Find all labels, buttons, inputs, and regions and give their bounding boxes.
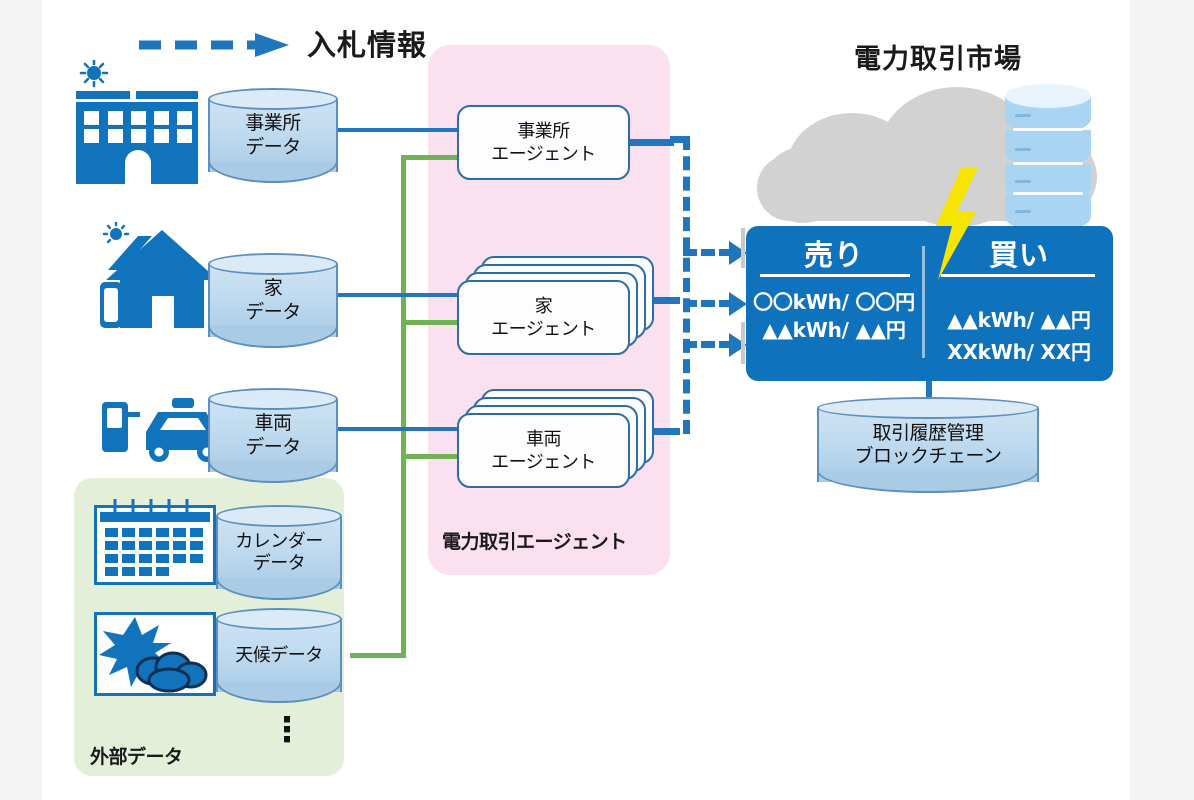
market-inlet-tick — [741, 228, 745, 268]
weather-data-trunk-horizontal — [350, 653, 406, 658]
market-title: 電力取引市場 — [854, 37, 1022, 76]
ledger-cylinder: 取引履歴管理 ブロックチェーン — [817, 397, 1039, 493]
branch-to-house-agent — [401, 320, 458, 325]
weather-data-text: 天候データ — [235, 645, 323, 667]
dashed-arrow-icon — [137, 32, 293, 58]
house-solar-battery-icon — [100, 222, 222, 330]
calendar-icon — [93, 498, 217, 586]
branch-to-office-agent — [401, 155, 458, 160]
calendar-data-cylinder: カレンダー データ — [216, 505, 342, 600]
market-buy-row: ▲▲kWh/ ▲▲円 — [925, 304, 1113, 333]
house-data-label: 家 データ — [208, 253, 338, 348]
vehicle-data-label: 車両 データ — [208, 388, 338, 483]
vehicle-agent-line1: 車両 — [526, 428, 561, 451]
market-sell-row: ▲▲kWh/ ▲▲円 — [746, 314, 922, 343]
calendar-data-label: カレンダー データ — [216, 505, 342, 600]
external-region-label: 外部データ — [90, 742, 183, 769]
market-buy-row: XXkWh/ XX円 — [925, 336, 1113, 365]
market-sell-header: 売り — [746, 232, 922, 274]
branch-to-vehicle-agent — [401, 454, 458, 459]
database-server-icon — [1005, 84, 1091, 224]
office-building-solar-icon — [74, 60, 200, 184]
market-sell-column: 売り 〇〇kWh/ 〇〇円 ▲▲kWh/ ▲▲円 — [746, 226, 922, 381]
bid-arrow-2 — [683, 292, 753, 316]
lightning-bolt-icon — [928, 168, 980, 280]
house-agent-line1: 家 — [535, 295, 553, 318]
office-data-cylinder: 事業所 データ — [208, 88, 338, 183]
vehicle-data-line1: 車両 — [254, 412, 291, 435]
house-data-cylinder: 家 データ — [208, 253, 338, 348]
house-data-line1: 家 — [264, 277, 283, 300]
weather-data-label: 天候データ — [216, 608, 342, 703]
legend-label: 入札情報 — [307, 22, 427, 64]
office-data-line2: データ — [245, 136, 301, 159]
sun-cloud-icon — [97, 615, 213, 693]
house-data-line2: データ — [245, 301, 301, 324]
vehicle-agent-label: 車両 エージェント — [457, 413, 630, 488]
vehicle-data-line2: データ — [245, 436, 301, 459]
vehicle-agent-line2: エージェント — [491, 451, 596, 474]
calendar-data-line1: カレンダー — [235, 531, 323, 553]
market-sell-row: 〇〇kWh/ 〇〇円 — [746, 286, 922, 315]
market-inlet-tick — [741, 322, 745, 364]
ledger-label: 取引履歴管理 ブロックチェーン — [817, 397, 1039, 493]
office-agent-box[interactable]: 事業所 エージェント — [457, 100, 657, 185]
ledger-line2: ブロックチェーン — [854, 445, 1001, 468]
vehicle-data-cylinder: 車両 データ — [208, 388, 338, 483]
office-agent-line1: 事業所 — [517, 120, 570, 143]
bid-info-corner — [670, 136, 690, 143]
weather-data-cylinder: 天候データ — [216, 608, 342, 703]
external-data-trunk-vertical — [401, 155, 406, 658]
external-more-ellipsis: ⋮ — [270, 713, 304, 747]
office-agent-line2: エージェント — [491, 143, 596, 166]
office-agent-label: 事業所 エージェント — [457, 105, 630, 180]
house-agent-line2: エージェント — [491, 318, 596, 341]
ledger-line1: 取引履歴管理 — [872, 422, 983, 445]
vehicle-agent-box[interactable]: 車両 エージェント — [457, 388, 667, 488]
ev-car-charger-icon — [102, 392, 222, 466]
calendar-data-line2: データ — [253, 553, 306, 575]
agent-region-label: 電力取引エージェント — [442, 527, 627, 554]
house-agent-label: 家 エージェント — [457, 280, 630, 355]
office-data-line1: 事業所 — [245, 112, 301, 135]
house-agent-box[interactable]: 家 エージェント — [457, 255, 667, 355]
bid-info-trunk — [683, 136, 690, 434]
office-data-label: 事業所 データ — [208, 88, 338, 183]
diagram-canvas: 入札情報 電力取引市場 売り 〇〇kWh/ 〇〇円 ▲▲kWh/ ▲▲円 — [42, 0, 1130, 800]
